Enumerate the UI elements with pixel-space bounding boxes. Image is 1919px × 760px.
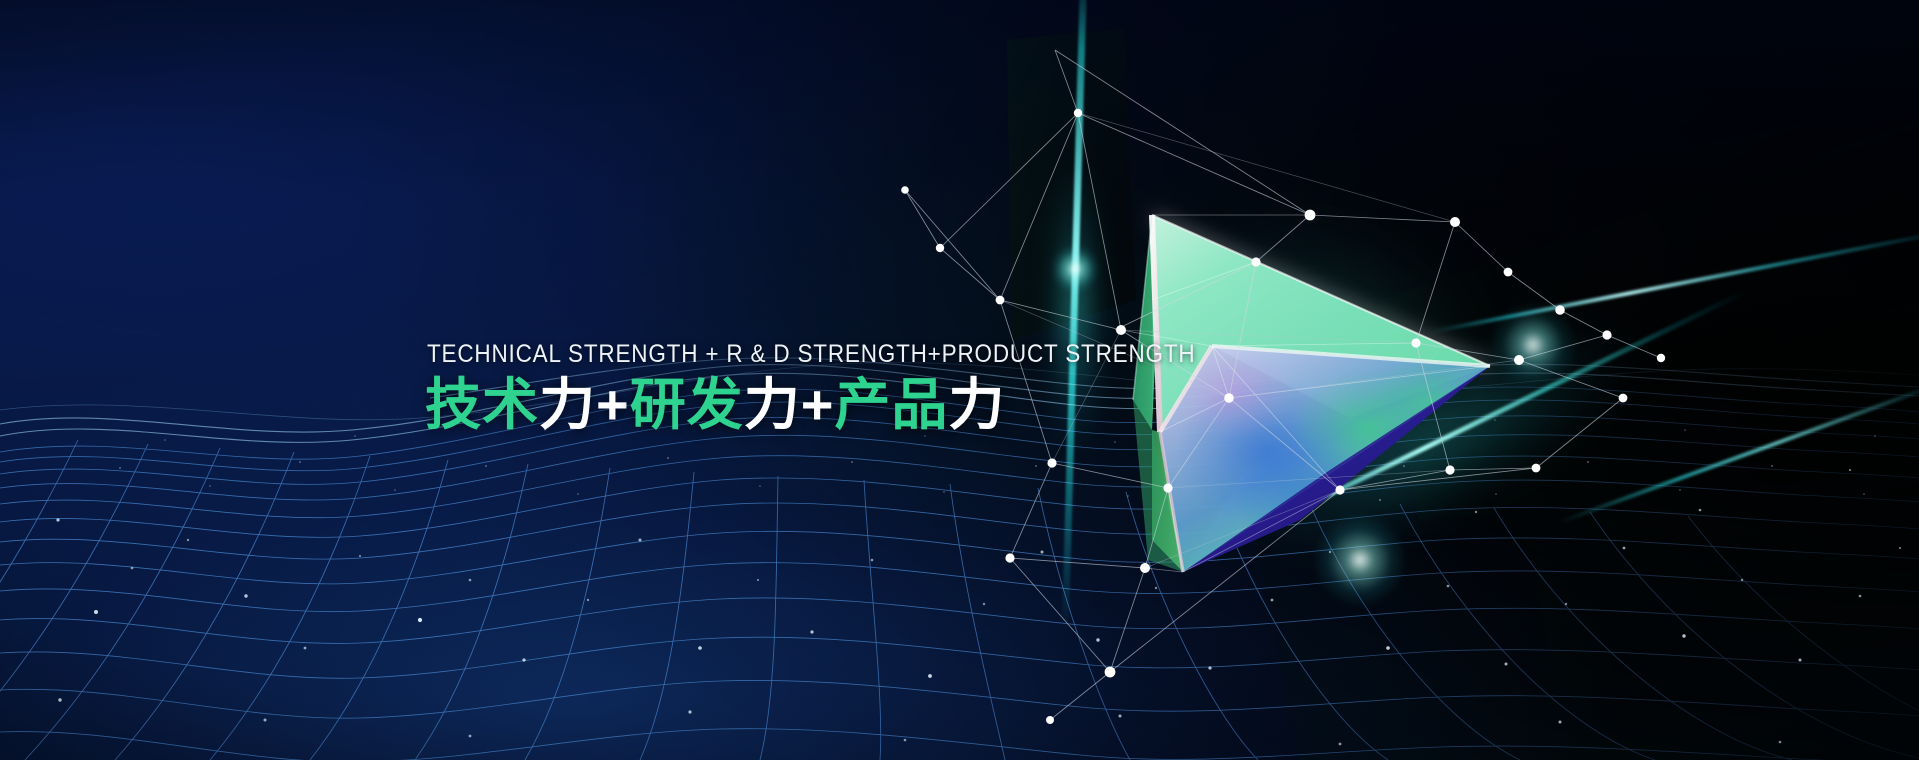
title-part-3: + xyxy=(596,373,630,436)
title-part-4: 研发 xyxy=(630,373,744,436)
title-part-7: 产品 xyxy=(834,373,948,436)
title-part-1: 技术 xyxy=(425,373,539,436)
hero-banner: TECHNICAL STRENGTH + R & D STRENGTH+PROD… xyxy=(0,0,1919,760)
headline-block: TECHNICAL STRENGTH + R & D STRENGTH+PROD… xyxy=(425,340,1281,434)
title-part-2: 力 xyxy=(539,373,596,436)
title-part-8: 力 xyxy=(948,373,1005,436)
title-part-6: + xyxy=(801,373,835,436)
page-title: 技术力+研发力+产品力 xyxy=(425,375,1281,434)
headline-eyebrow: TECHNICAL STRENGTH + R & D STRENGTH+PROD… xyxy=(427,340,1195,369)
title-part-5: 力 xyxy=(744,373,801,436)
vertical-cyan-light-beam xyxy=(1062,0,1087,630)
right-edge-light-beam xyxy=(1559,376,1919,523)
